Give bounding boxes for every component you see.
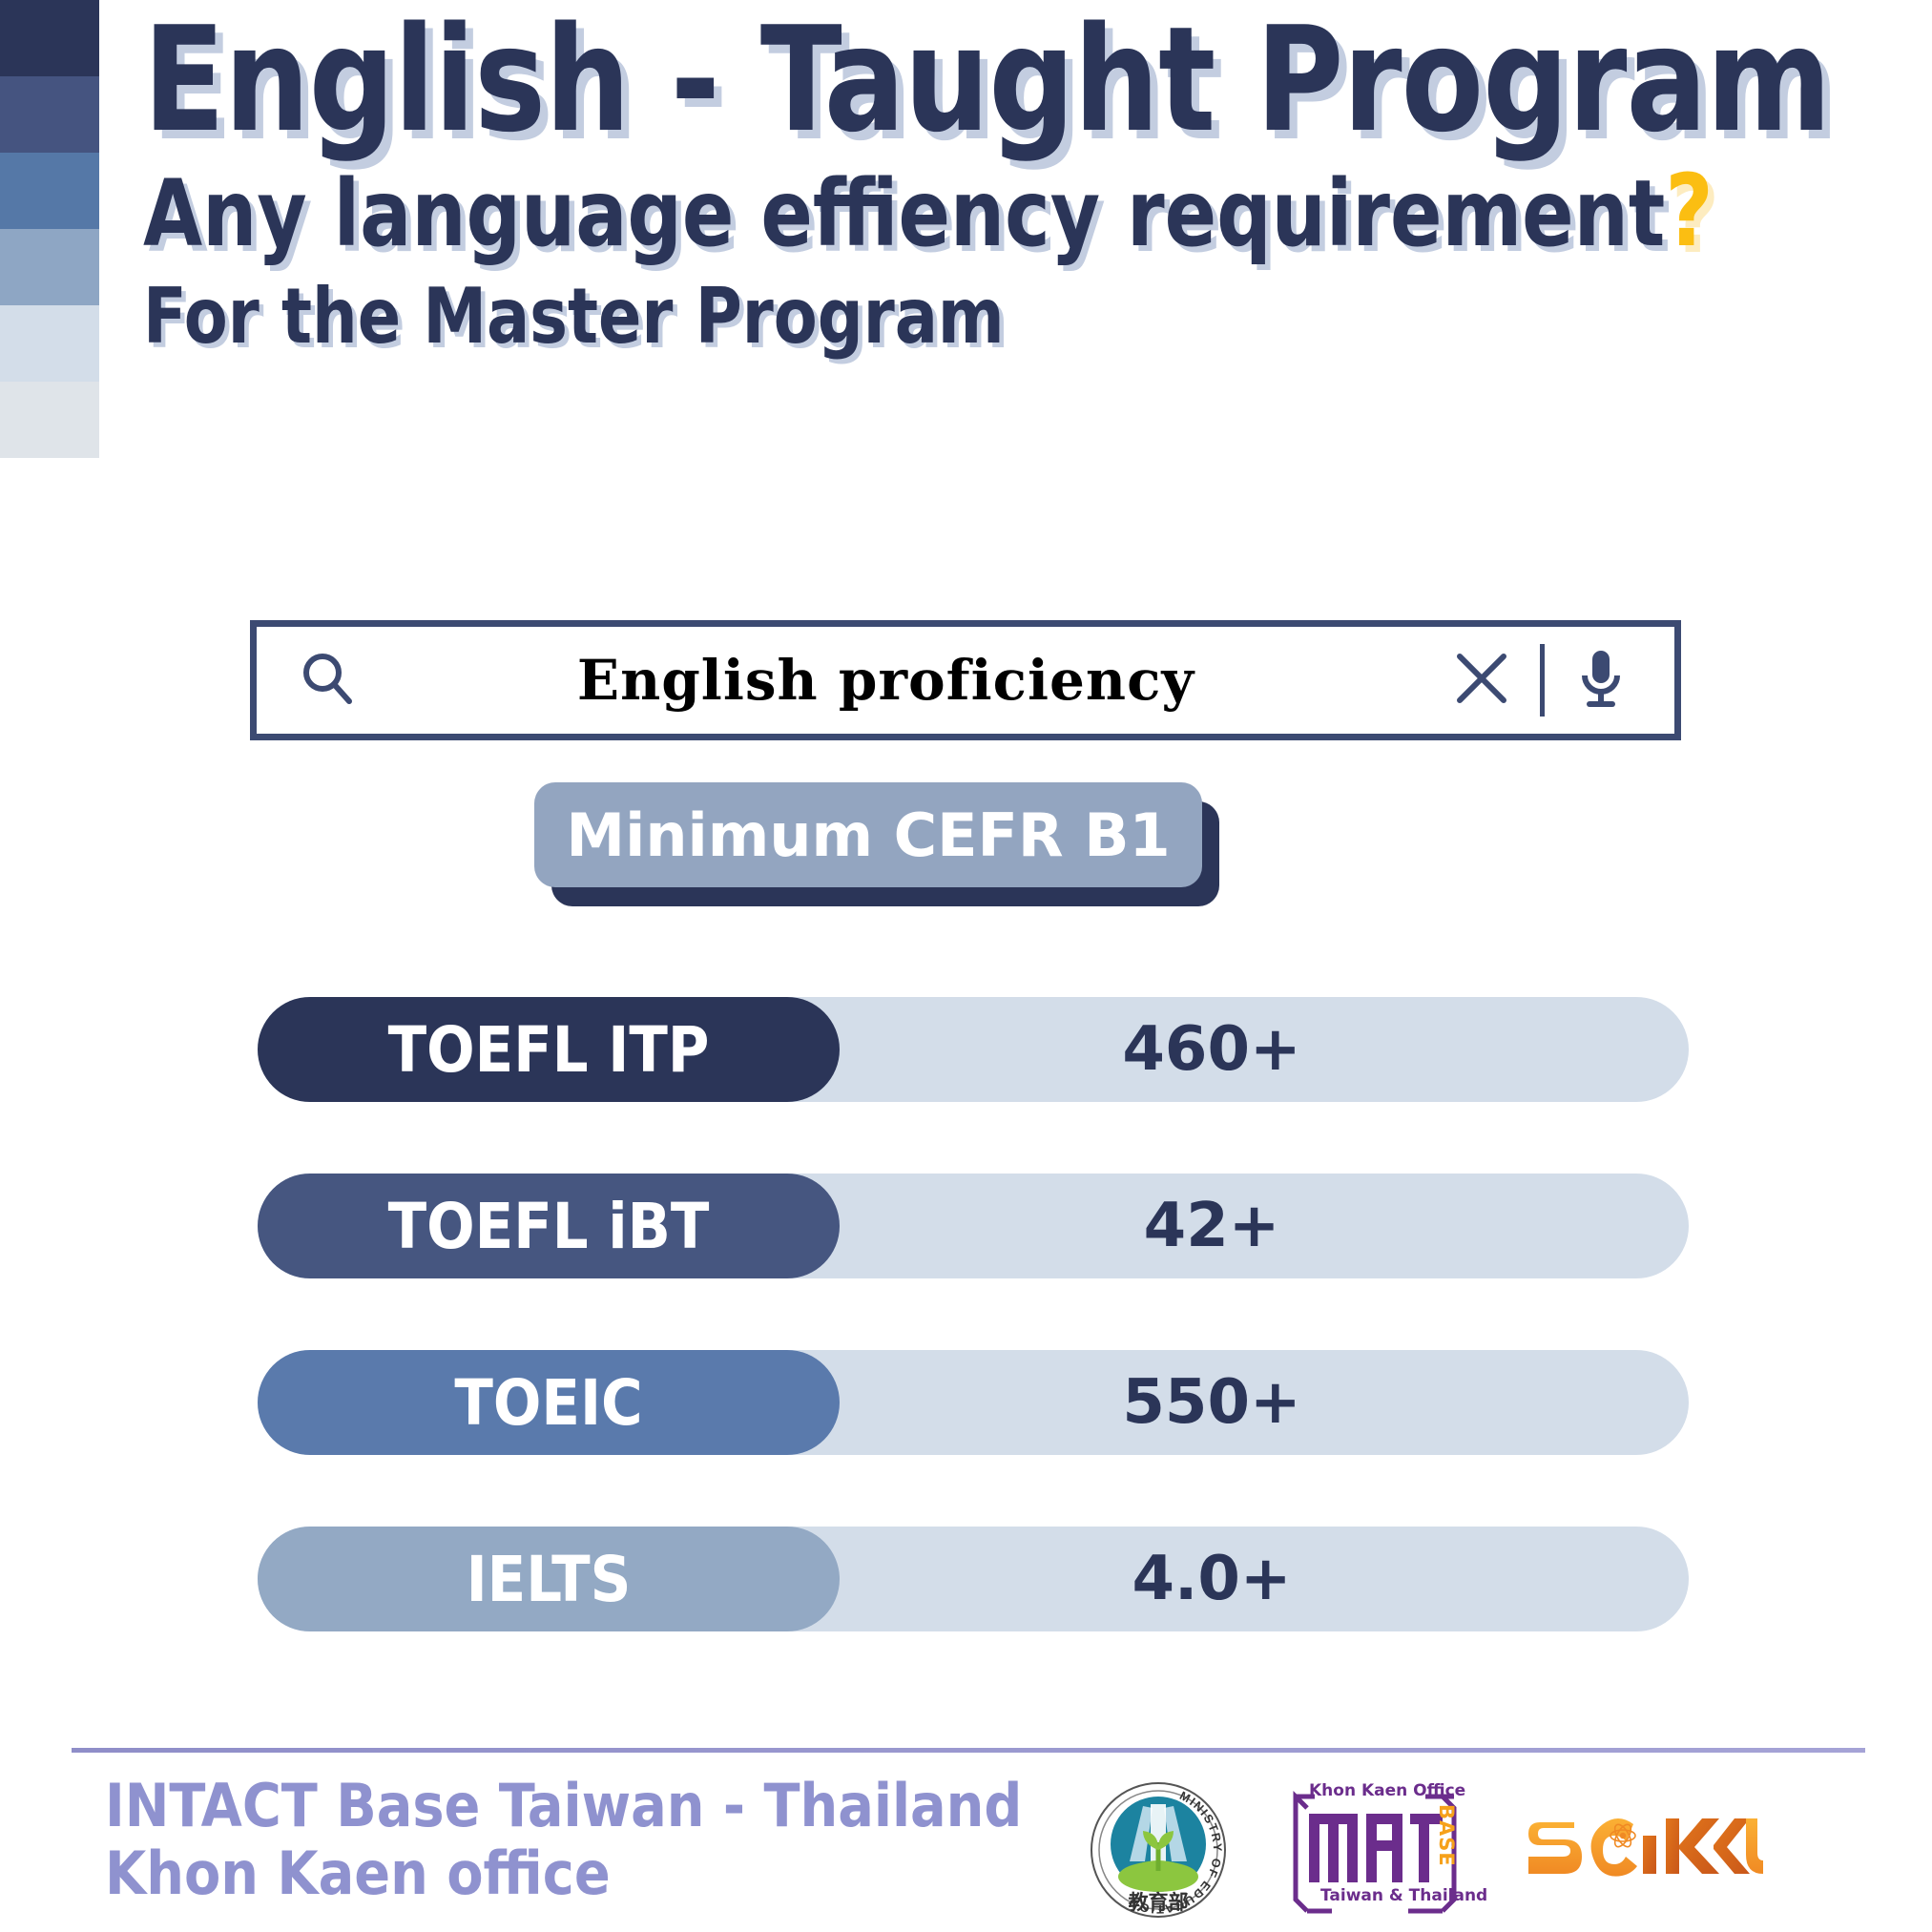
- page-subtitle-text: Any language effiency requirement: [143, 160, 1665, 267]
- row-test-label: TOEFL ITP: [388, 1013, 710, 1087]
- row-score-value: 4.0+: [840, 1527, 1584, 1631]
- search-input[interactable]: English proficiency: [358, 648, 1452, 713]
- question-mark-icon: ?: [1665, 153, 1713, 269]
- page-subtitle: Any language effiency requirement?: [143, 153, 1794, 270]
- search-divider: [1540, 644, 1545, 717]
- close-x-icon[interactable]: [1452, 649, 1511, 713]
- footer-line-2: Khon Kaen office: [105, 1839, 1022, 1907]
- svg-text:教育部: 教育部: [1129, 1891, 1189, 1914]
- row-test-label: TOEIC: [454, 1366, 642, 1440]
- intact-top-text: Khon Kaen Office: [1309, 1781, 1465, 1800]
- row-score-value: 460+: [840, 997, 1584, 1102]
- swatch-2: [0, 76, 99, 153]
- row-test-label: IELTS: [467, 1543, 632, 1616]
- table-row: IELTS 4.0+: [258, 1527, 1689, 1631]
- table-row: TOEFL iBT 42+: [258, 1174, 1689, 1278]
- scikku-logo: [1527, 1807, 1765, 1893]
- cefr-badge: Minimum CEFR B1: [534, 782, 1202, 887]
- search-bar[interactable]: English proficiency: [250, 620, 1681, 740]
- search-icon: [297, 648, 358, 714]
- footer-logos: MINISTRY OF EDUCATION 教育部: [1088, 1774, 1918, 1926]
- row-test-pill: IELTS: [258, 1527, 840, 1631]
- row-test-pill: TOEIC: [258, 1350, 840, 1455]
- header-block: English - Taught Program Any language ef…: [143, 8, 1918, 363]
- row-test-label: TOEFL iBT: [388, 1190, 710, 1263]
- color-swatch-strip: [0, 0, 99, 458]
- swatch-1: [0, 0, 99, 76]
- score-rows: TOEFL ITP 460+ TOEFL iBT 42+ TOEIC 550+ …: [258, 997, 1689, 1703]
- row-score-value: 42+: [840, 1174, 1584, 1278]
- row-score-value: 550+: [840, 1350, 1584, 1455]
- footer: INTACT Base Taiwan - Thailand Khon Kaen …: [0, 1760, 1932, 1932]
- row-test-pill: TOEFL ITP: [258, 997, 840, 1102]
- footer-divider: [72, 1748, 1865, 1753]
- table-row: TOEIC 550+: [258, 1350, 1689, 1455]
- page-title: English - Taught Program: [143, 8, 1776, 153]
- swatch-6: [0, 382, 99, 458]
- search-actions: [1452, 644, 1629, 717]
- ministry-of-education-logo: MINISTRY OF EDUCATION 教育部: [1088, 1779, 1229, 1921]
- page-third-line: For the Master Program: [143, 270, 1794, 364]
- microphone-icon[interactable]: [1573, 645, 1629, 717]
- intact-bottom-text: Taiwan & Thailand: [1320, 1886, 1487, 1905]
- footer-line-1: INTACT Base Taiwan - Thailand: [105, 1772, 1022, 1839]
- cefr-badge-label: Minimum CEFR B1: [566, 800, 1170, 870]
- intact-base-logo: Khon Kaen Office Taiwan & Thailand BASE: [1282, 1779, 1473, 1921]
- cefr-badge-wrapper: Minimum CEFR B1: [534, 782, 1221, 906]
- swatch-5: [0, 305, 99, 382]
- table-row: TOEFL ITP 460+: [258, 997, 1689, 1102]
- footer-org-name: INTACT Base Taiwan - Thailand Khon Kaen …: [105, 1772, 1022, 1908]
- swatch-4: [0, 229, 99, 305]
- swatch-3: [0, 153, 99, 229]
- row-test-pill: TOEFL iBT: [258, 1174, 840, 1278]
- intact-base-text: BASE: [1435, 1804, 1458, 1867]
